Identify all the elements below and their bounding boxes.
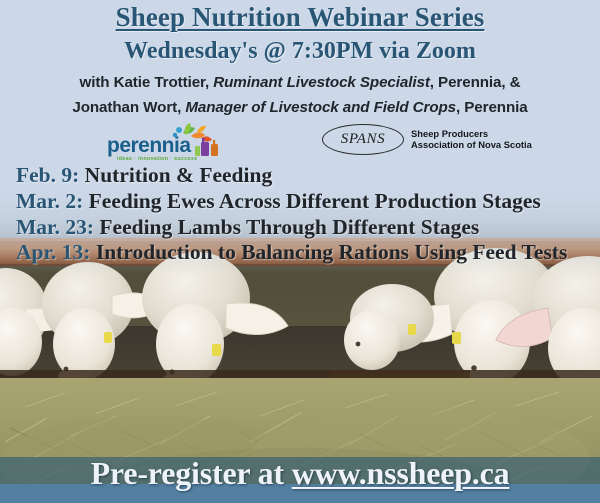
schedule-row: Mar. 23: Feeding Lambs Through Different… — [16, 215, 596, 241]
schedule-row: Feb. 9: Nutrition & Feeding — [16, 163, 596, 189]
presenter-1-org: , Perennia, & — [430, 74, 521, 91]
presenter-2-org: , Perennia — [456, 99, 528, 116]
schedule-row: Apr. 13: Introduction to Balancing Ratio… — [16, 240, 596, 266]
presenter-1-name: with Katie Trottier, — [79, 74, 213, 91]
spans-logo: SPANS Sheep Producers Association of Nov… — [322, 122, 532, 156]
schedule-date: Feb. 9: — [16, 163, 79, 187]
schedule-date: Mar. 23: — [16, 215, 94, 239]
schedule-topic: Nutrition & Feeding — [79, 163, 272, 187]
register-url-link[interactable]: www.nssheep.ca — [292, 455, 510, 491]
schedule-topic: Feeding Lambs Through Different Stages — [94, 215, 479, 239]
schedule-row: Mar. 2: Feeding Ewes Across Different Pr… — [16, 189, 596, 215]
perennia-logo: perennia ideas · innovation · success — [105, 122, 225, 162]
spans-name: Sheep Producers Association of Nova Scot… — [411, 128, 532, 151]
schedule-topic: Introduction to Balancing Rations Using … — [90, 240, 567, 264]
schedule-date: Mar. 2: — [16, 189, 83, 213]
svg-text:perennia: perennia — [107, 134, 191, 157]
poster: Sheep Nutrition Webinar Series Wednesday… — [0, 0, 600, 503]
presenter-2-name: Jonathan Wort, — [72, 99, 185, 116]
presenter-2-role: Manager of Livestock and Field Crops — [185, 99, 456, 116]
schedule-topic: Feeding Ewes Across Different Production… — [83, 189, 540, 213]
logo-row: perennia ideas · innovation · success SP… — [0, 118, 600, 164]
presenter-1-role: Ruminant Livestock Specialist — [213, 74, 430, 91]
presenter-line-2: Jonathan Wort, Manager of Livestock and … — [0, 99, 600, 116]
spans-name-line-2: Association of Nova Scotia — [411, 139, 532, 151]
presenter-line-1: with Katie Trottier, Ruminant Livestock … — [0, 74, 600, 91]
schedule-subtitle: Wednesday's @ 7:30PM via Zoom — [0, 38, 600, 65]
webinar-schedule-list: Feb. 9: Nutrition & Feeding Mar. 2: Feed… — [16, 163, 596, 266]
spans-acronym: SPANS — [322, 124, 404, 155]
register-callout: Pre-register at www.nssheep.ca — [0, 455, 600, 492]
page-title: Sheep Nutrition Webinar Series — [0, 2, 600, 33]
svg-text:ideas · innovation · success: ideas · innovation · success — [117, 156, 197, 162]
schedule-date: Apr. 13: — [16, 240, 90, 264]
spans-name-line-1: Sheep Producers — [411, 128, 532, 140]
register-prefix: Pre-register at — [91, 455, 292, 491]
